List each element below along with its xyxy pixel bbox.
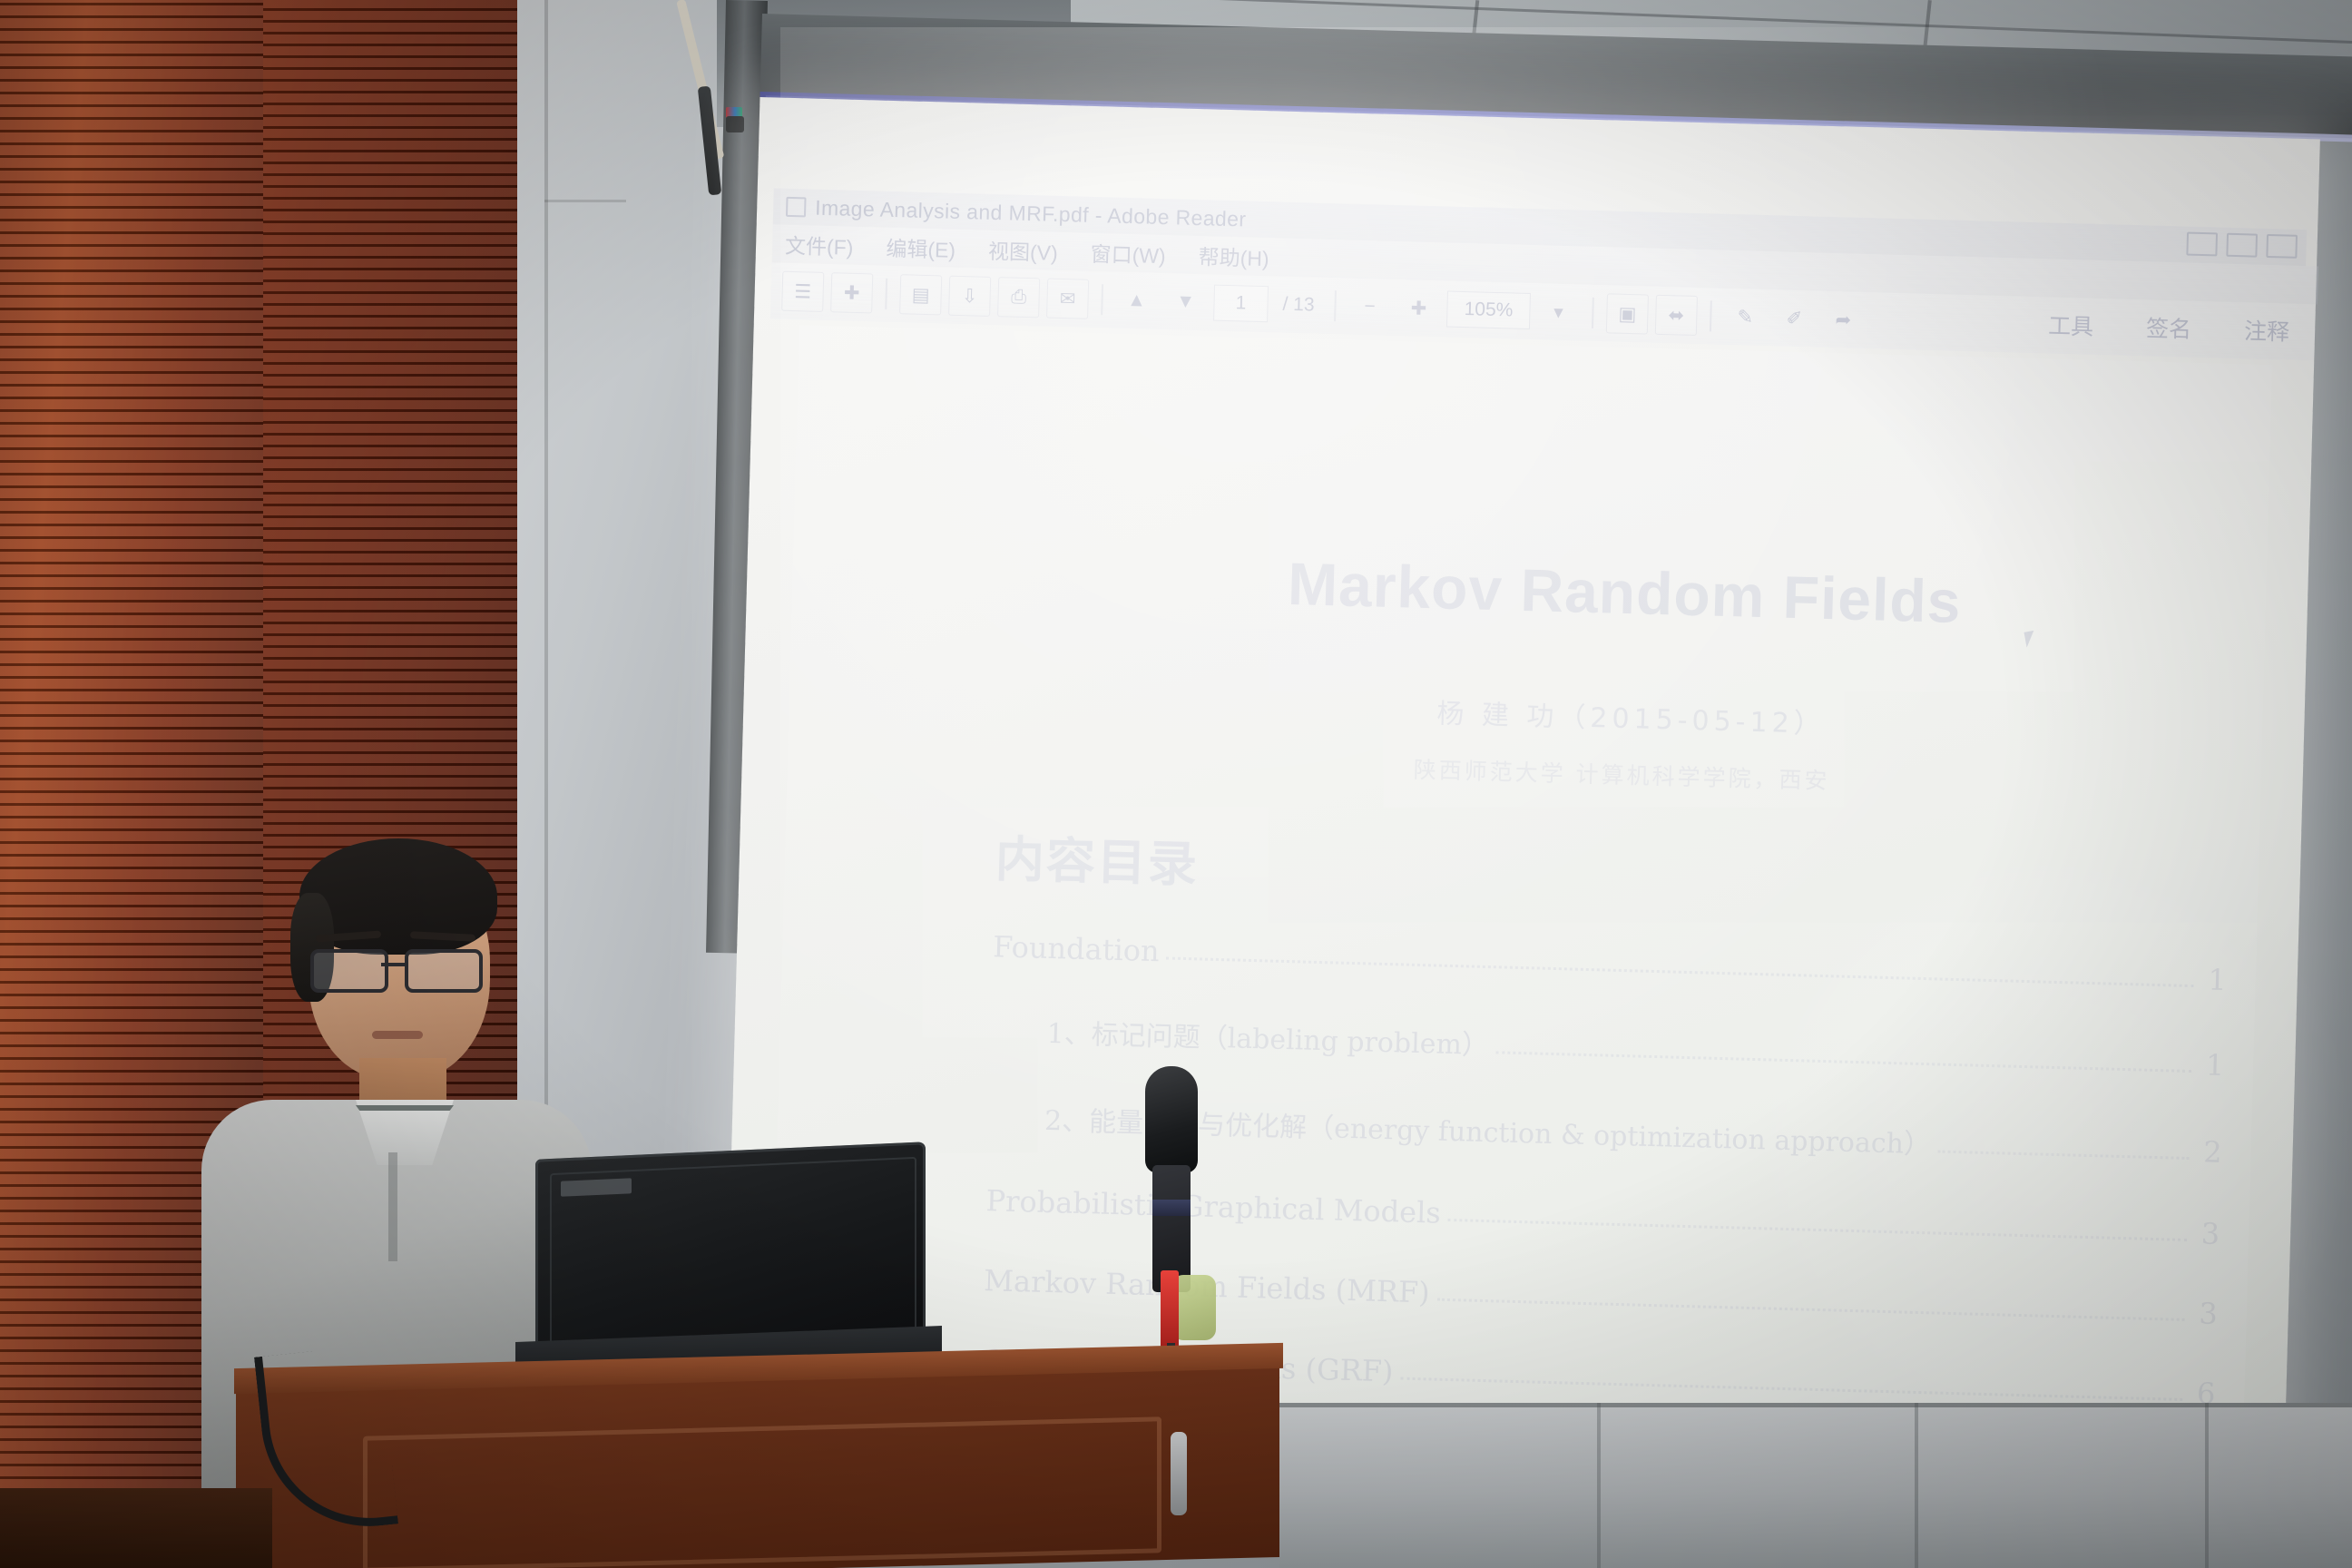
close-button[interactable]	[2266, 234, 2298, 259]
toolbar-separator-2	[1101, 284, 1103, 315]
toc-entry-page: 2	[2198, 1134, 2222, 1170]
toc-entry-label: Probabilistic Graphical Models	[985, 1183, 1441, 1230]
mouse-cursor-icon	[2024, 630, 2043, 648]
add-note-icon[interactable]: ✐	[1773, 298, 1816, 338]
toc-entry-page: 3	[2196, 1216, 2220, 1251]
adobe-reader-icon	[786, 197, 807, 218]
cable-clip	[726, 116, 744, 132]
toc-entry-page: 1	[2200, 1047, 2225, 1083]
presenter-mouth	[372, 1031, 423, 1039]
minimize-button[interactable]	[2186, 232, 2218, 257]
toc-dot-leader	[1166, 956, 2193, 987]
microphone-head	[1145, 1066, 1198, 1173]
print-icon[interactable]: ⎙	[997, 277, 1040, 318]
presenter-glasses	[310, 949, 492, 987]
menu-item-help[interactable]: 帮助(H)	[1198, 240, 1269, 272]
microphone-green-object	[1172, 1275, 1216, 1340]
zoom-out-icon[interactable]: −	[1348, 287, 1391, 328]
baseboard-seam-3	[2205, 1403, 2209, 1568]
baseboard-seam-1	[1597, 1403, 1601, 1568]
toolbar-separator-3	[1334, 290, 1337, 321]
tab-tools[interactable]: 工具	[2048, 308, 2094, 341]
toc-dot-leader	[1448, 1219, 2188, 1241]
toolbar-separator-1	[885, 279, 887, 309]
list-item[interactable]: Foundation 1	[993, 929, 2228, 997]
podium-handle	[1171, 1432, 1187, 1515]
baseboard-top-line	[1279, 1403, 2352, 1407]
presenter-collar-stripe	[356, 1105, 454, 1111]
glasses-lens-right	[405, 949, 483, 993]
right-task-pane-tabs: 工具 签名 注释	[2048, 308, 2290, 347]
tab-sign[interactable]: 签名	[2146, 310, 2192, 344]
thinkpad-logo: ThinkPad	[561, 1178, 632, 1197]
microphone-red-stripe	[1161, 1270, 1179, 1348]
screen-surface: Image Analysis and MRF.pdf - Adobe Reade…	[725, 97, 2320, 1445]
podium-front-panel	[363, 1416, 1161, 1568]
toc-entry-page: 1	[2202, 962, 2227, 997]
chevron-down-icon[interactable]: ▾	[1537, 291, 1580, 332]
toc-dot-leader	[1496, 1051, 2191, 1073]
export-pdf-icon[interactable]: ⇩	[948, 276, 991, 317]
email-icon[interactable]: ✉	[1046, 279, 1089, 319]
page-number-input[interactable]: 1	[1213, 285, 1269, 323]
save-file-icon[interactable]: ▤	[899, 274, 942, 315]
menu-item-edit[interactable]: 编辑(E)	[886, 231, 956, 264]
pdf-page[interactable]: Markov Random Fields 杨 建 功（2015-05-12） 陕…	[769, 325, 2272, 1498]
toc-dot-leader	[1400, 1377, 2182, 1401]
floor-left	[0, 1488, 272, 1568]
toc-entry-label: Foundation	[993, 929, 1160, 968]
toolbar-separator-4	[1592, 298, 1594, 328]
adobe-reader-window: Image Analysis and MRF.pdf - Adobe Reade…	[740, 188, 2308, 1513]
toolbar-separator-5	[1710, 300, 1712, 331]
presenter-shirt-placket	[388, 1152, 397, 1261]
menu-item-window[interactable]: 窗口(W)	[1090, 237, 1166, 269]
fit-width-icon[interactable]: ⬌	[1655, 295, 1698, 336]
next-page-icon[interactable]: ▼	[1164, 281, 1207, 322]
microphone-band	[1152, 1200, 1191, 1216]
glasses-bridge	[381, 963, 405, 966]
maximize-button[interactable]	[2226, 233, 2258, 258]
window-controls[interactable]	[2186, 232, 2298, 259]
page-total-label: / 13	[1275, 293, 1322, 316]
menu-item-view[interactable]: 视图(V)	[988, 234, 1059, 267]
projection-screen: Image Analysis and MRF.pdf - Adobe Reade…	[724, 14, 2352, 1472]
highlight-text-icon[interactable]: ✎	[1724, 297, 1767, 338]
fit-page-icon[interactable]: ▣	[1606, 293, 1649, 334]
tab-comment[interactable]: 注释	[2244, 313, 2290, 347]
photo-scene: Image Analysis and MRF.pdf - Adobe Reade…	[0, 0, 2352, 1568]
wall-panel-seam-short	[544, 200, 626, 202]
toc-dot-leader	[1436, 1298, 2184, 1321]
toc-dot-leader	[1938, 1151, 2190, 1160]
open-file-icon[interactable]: ☰	[781, 271, 824, 312]
window-title: Image Analysis and MRF.pdf - Adobe Reade…	[815, 195, 1247, 231]
toc-entry-label: 1、标记问题（labeling problem）	[1046, 1011, 1489, 1063]
toc-entry-page: 3	[2193, 1296, 2218, 1331]
baseboard-seam-2	[1915, 1403, 1918, 1568]
slide-author-line: 杨 建 功（2015-05-12）	[1436, 691, 1826, 741]
zoom-in-icon[interactable]: ✚	[1397, 288, 1440, 328]
share-file-icon[interactable]: ➦	[1822, 299, 1865, 340]
slide-affiliation: 陕西师范大学 计算机科学学院，西安	[1413, 752, 1830, 796]
toc-heading: 内容目录	[995, 818, 1200, 896]
zoom-level-value[interactable]: 105%	[1446, 291, 1531, 329]
slide-title: Markov Random Fields	[1287, 549, 1962, 636]
previous-page-icon[interactable]: ▲	[1115, 280, 1158, 321]
glasses-lens-left	[310, 949, 388, 993]
menu-item-file[interactable]: 文件(F)	[785, 229, 854, 261]
wall-baseboard	[1279, 1403, 2352, 1568]
create-pdf-icon[interactable]: ✚	[830, 272, 873, 313]
